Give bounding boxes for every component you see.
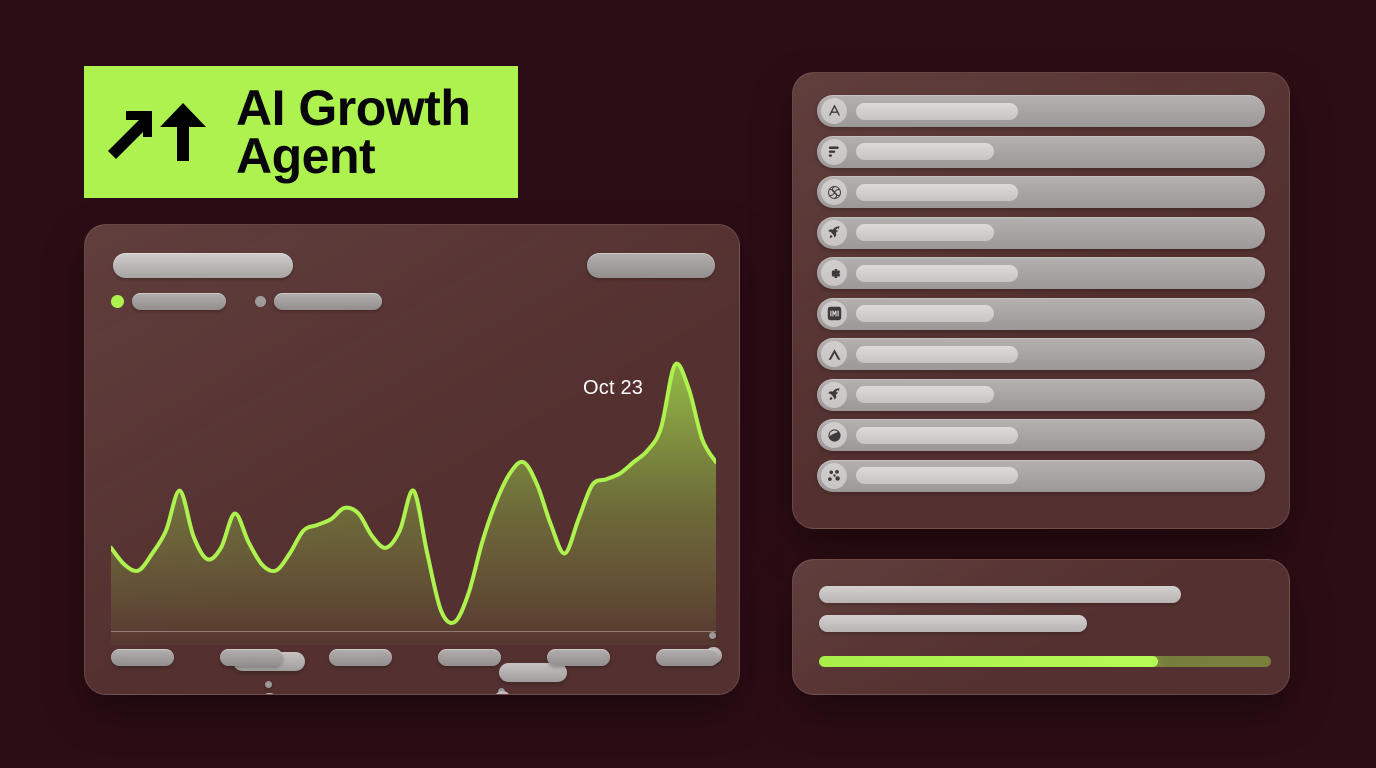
x-tick-placeholder	[438, 649, 501, 666]
x-tick-placeholder	[111, 649, 174, 666]
x-tick-placeholder	[656, 649, 719, 666]
gear-icon	[821, 260, 847, 286]
integration-row[interactable]	[817, 176, 1265, 208]
integration-row[interactable]	[817, 379, 1265, 411]
chart-date-callout: Oct 23	[583, 377, 643, 400]
chart-tooltip-stem-3-icon	[709, 632, 716, 639]
openai-icon	[821, 179, 847, 205]
chart-title-placeholder	[113, 253, 293, 278]
chart-area-fill	[111, 364, 716, 645]
x-tick-placeholder	[220, 649, 283, 666]
x-tick-placeholder	[547, 649, 610, 666]
integrations-list-card	[792, 72, 1290, 529]
chart-x-tick-labels	[111, 649, 719, 666]
app-store-icon	[821, 98, 847, 124]
integration-label-placeholder	[856, 265, 1018, 282]
integration-label-placeholder	[856, 305, 994, 322]
integrations-list	[817, 95, 1265, 492]
chart-legend	[111, 293, 382, 310]
chart-marker-1[interactable]	[261, 693, 278, 695]
chart-tooltip-stem-1-icon	[265, 681, 272, 688]
chart-action-placeholder[interactable]	[587, 253, 715, 278]
integration-label-placeholder	[856, 386, 994, 403]
bar-chart-icon	[821, 139, 847, 165]
integration-label-placeholder	[856, 224, 994, 241]
chart-marker-2[interactable]	[494, 691, 511, 695]
progress-summary-card	[792, 559, 1290, 695]
rocket-icon	[821, 382, 847, 408]
integration-row[interactable]	[817, 217, 1265, 249]
growth-arrows-icon	[102, 97, 214, 167]
integration-label-placeholder	[856, 143, 994, 160]
legend-label-primary-placeholder	[132, 293, 226, 310]
matrix-badge-icon	[821, 301, 847, 327]
integration-row[interactable]	[817, 338, 1265, 370]
chart-x-axis	[111, 631, 716, 632]
legend-dot-secondary-icon	[255, 296, 266, 307]
brand-title: AI Growth Agent	[236, 84, 470, 181]
cluster-icon	[821, 463, 847, 489]
legend-dot-primary-icon	[111, 295, 124, 308]
brand-badge: AI Growth Agent	[84, 66, 518, 198]
integration-label-placeholder	[856, 427, 1018, 444]
rocket-icon	[821, 220, 847, 246]
progress-bar-fill	[819, 656, 1158, 667]
progress-text-placeholder-2	[819, 615, 1087, 632]
lambda-icon	[821, 341, 847, 367]
growth-chart-card: Oct 23	[84, 224, 740, 695]
progress-text-placeholder-1	[819, 586, 1181, 603]
integration-row[interactable]	[817, 136, 1265, 168]
swoosh-icon	[821, 422, 847, 448]
integration-label-placeholder	[856, 346, 1018, 363]
integration-row[interactable]	[817, 419, 1265, 451]
integration-row[interactable]	[817, 257, 1265, 289]
legend-label-secondary-placeholder	[274, 293, 382, 310]
integration-label-placeholder	[856, 184, 1018, 201]
progress-bar-track[interactable]	[819, 656, 1271, 667]
integration-label-placeholder	[856, 103, 1018, 120]
integration-row[interactable]	[817, 298, 1265, 330]
integration-row[interactable]	[817, 460, 1265, 492]
x-tick-placeholder	[329, 649, 392, 666]
integration-row[interactable]	[817, 95, 1265, 127]
integration-label-placeholder	[856, 467, 1018, 484]
